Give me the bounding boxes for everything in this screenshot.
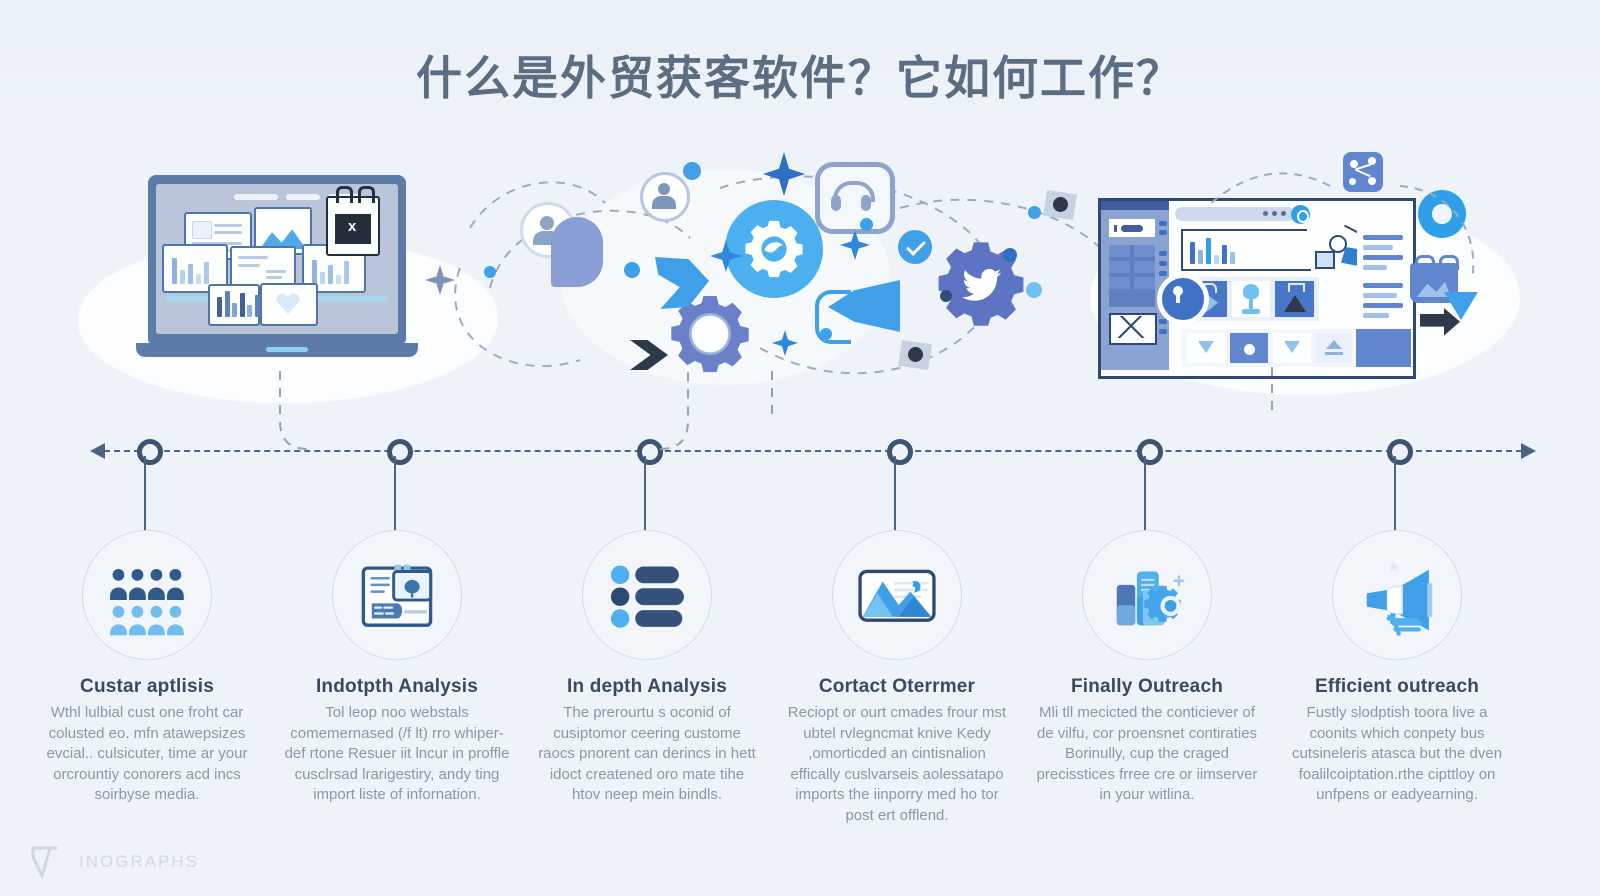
- product-tile: [1275, 281, 1314, 317]
- node-dot: [1026, 282, 1042, 298]
- watermark-text: INOGRAPHS: [79, 852, 199, 872]
- step-3-title: In depth Analysis: [522, 676, 772, 698]
- node-dot: [624, 262, 640, 278]
- step-3-icon-ring[interactable]: [582, 530, 712, 660]
- step-5-title: Finally Outreach: [1022, 676, 1272, 698]
- node-dot: [820, 328, 832, 340]
- central-gear-badge: [725, 200, 823, 298]
- gear-icon: [743, 218, 805, 280]
- laptop-trackpad: [266, 347, 308, 352]
- laptop-card-bars: [208, 284, 260, 326]
- right-dashed-arc: [1380, 160, 1500, 340]
- step-1-body: Wthl lulbial cust one froht car colusted…: [34, 703, 260, 806]
- step-6-body: Fustly slodptish toora live a coonits wh…: [1284, 703, 1510, 806]
- node-dot: [683, 162, 701, 180]
- page-title: 什么是外贸获客软件？它如何工作？: [0, 42, 1600, 108]
- node-dot: [860, 218, 873, 231]
- bag-x-letter: [335, 214, 371, 244]
- step-4-title: Cortact Oterrmer: [772, 676, 1022, 698]
- node-dot: [484, 266, 496, 278]
- step-1-icon-ring[interactable]: [82, 530, 212, 660]
- laptop-content-grid: [148, 175, 416, 365]
- right-dashed-link: [1040, 160, 1370, 220]
- bullet-list-icon: [605, 553, 689, 637]
- step-2-body: Tol leop noo webstals comemernased (/f l…: [284, 703, 510, 806]
- shopping-bag-badge-icon: [326, 196, 380, 256]
- illustration-drop-lines: [100, 365, 1520, 455]
- chart-panel: [1181, 229, 1311, 271]
- laptop-screen: [156, 184, 398, 334]
- headset-support-icon: [815, 162, 895, 234]
- arrow-right-icon: [1521, 443, 1536, 459]
- person-bubble-icon: [640, 172, 690, 222]
- node-dot: [940, 290, 952, 302]
- verified-badge-icon: [898, 230, 932, 264]
- hero-illustration: [0, 140, 1600, 400]
- step-2-title: Indotpth Analysis: [272, 676, 522, 698]
- infographic-canvas: 什么是外贸获客软件？它如何工作？: [0, 0, 1600, 896]
- article-document-icon: [355, 553, 439, 637]
- crm-dashboard-screen: [1098, 198, 1416, 379]
- watermark: INOGRAPHS: [30, 845, 199, 879]
- envelope-icon: [1109, 313, 1157, 345]
- step-1-title: Custar aptlisis: [22, 676, 272, 698]
- lock-icon: [1157, 273, 1209, 325]
- people-group-icon: [105, 553, 189, 637]
- step-5-body: Mli tll mecicted the conticiever of de v…: [1034, 703, 1260, 806]
- step-2-icon-ring[interactable]: [332, 530, 462, 660]
- megaphone-cart-icon: [1355, 553, 1439, 637]
- step-3-body: The prerourtu s oconid of cusiptomor cee…: [534, 703, 760, 806]
- laptop-card-heart: [260, 283, 318, 326]
- step-4-icon-ring[interactable]: [832, 530, 962, 660]
- steps-row: Custar aptlisis Wthl lulbial cust one fr…: [0, 468, 1600, 888]
- image-photo-icon: [855, 553, 939, 637]
- product-tile: [1232, 281, 1270, 317]
- database-gear-icon: [1105, 553, 1189, 637]
- step-6-title: Efficient outreach: [1272, 676, 1522, 698]
- w-logo-mark: [30, 845, 70, 879]
- step-4-body: Reciopt or ourt cmades frour mst ubtel r…: [784, 703, 1010, 826]
- node-dot: [1003, 248, 1017, 262]
- step-6-icon-ring[interactable]: [1332, 530, 1462, 660]
- step-5-icon-ring[interactable]: [1082, 530, 1212, 660]
- laptop-lid: [148, 175, 406, 343]
- shape-blob-icon: [551, 217, 603, 287]
